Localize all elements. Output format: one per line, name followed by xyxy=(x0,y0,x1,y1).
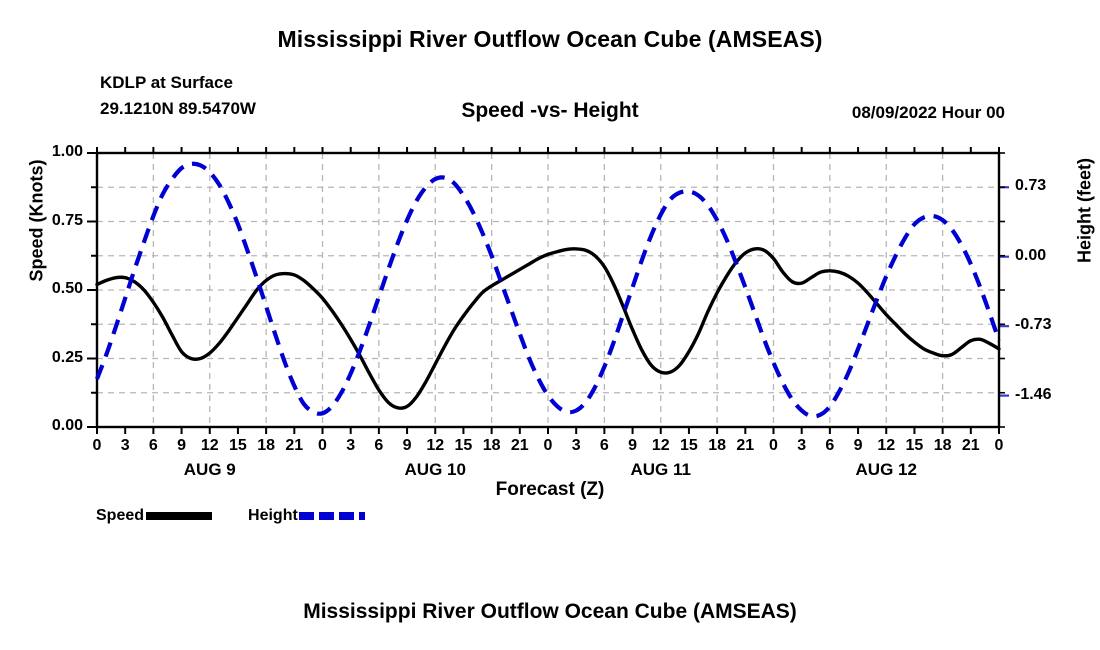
y-left-tick-label: 0.25 xyxy=(19,349,83,367)
x-tick-label: 21 xyxy=(505,437,535,455)
x-tick-label: 9 xyxy=(392,437,422,455)
x-tick-label: 3 xyxy=(787,437,817,455)
day-label: AUG 12 xyxy=(826,460,946,480)
x-tick-label: 9 xyxy=(167,437,197,455)
footer-title: Mississippi River Outflow Ocean Cube (AM… xyxy=(0,600,1100,624)
legend-item-height: Height xyxy=(248,507,365,525)
legend-label-speed: Speed xyxy=(96,507,144,525)
y-right-tick-label: -0.73 xyxy=(1015,316,1085,334)
day-label: AUG 11 xyxy=(601,460,721,480)
x-tick-label: 18 xyxy=(928,437,958,455)
chart-svg xyxy=(0,0,1100,650)
day-label: AUG 9 xyxy=(150,460,270,480)
legend-label-height: Height xyxy=(248,507,298,525)
x-tick-label: 3 xyxy=(110,437,140,455)
x-tick-label: 3 xyxy=(561,437,591,455)
legend-item-speed: Speed xyxy=(96,507,212,525)
x-axis-title: Forecast (Z) xyxy=(0,479,1100,501)
legend: Speed Height xyxy=(96,505,365,527)
y-right-tick-label: -1.46 xyxy=(1015,386,1085,404)
x-tick-label: 21 xyxy=(956,437,986,455)
legend-swatch-speed xyxy=(146,512,212,520)
plot-area: 0369121518210369121518210369121518210369… xyxy=(0,0,1100,650)
x-tick-label: 18 xyxy=(702,437,732,455)
x-tick-label: 21 xyxy=(279,437,309,455)
legend-swatch-height xyxy=(299,512,365,520)
x-tick-label: 6 xyxy=(138,437,168,455)
x-tick-label: 12 xyxy=(420,437,450,455)
x-tick-label: 12 xyxy=(195,437,225,455)
x-tick-label: 15 xyxy=(223,437,253,455)
x-tick-label: 3 xyxy=(336,437,366,455)
x-tick-label: 0 xyxy=(82,437,112,455)
x-tick-label: 6 xyxy=(364,437,394,455)
day-label: AUG 10 xyxy=(375,460,495,480)
y-axis-right-title: Height (feet) xyxy=(1075,111,1096,311)
x-tick-label: 0 xyxy=(533,437,563,455)
x-tick-label: 18 xyxy=(251,437,281,455)
y-left-tick-label: 0.00 xyxy=(19,417,83,435)
x-tick-label: 15 xyxy=(899,437,929,455)
x-tick-label: 15 xyxy=(448,437,478,455)
x-tick-label: 21 xyxy=(730,437,760,455)
x-tick-label: 6 xyxy=(815,437,845,455)
x-tick-label: 0 xyxy=(984,437,1014,455)
x-tick-label: 6 xyxy=(589,437,619,455)
x-tick-label: 15 xyxy=(674,437,704,455)
x-tick-label: 18 xyxy=(477,437,507,455)
x-tick-label: 9 xyxy=(618,437,648,455)
x-tick-label: 12 xyxy=(871,437,901,455)
x-tick-label: 9 xyxy=(843,437,873,455)
x-tick-label: 0 xyxy=(308,437,338,455)
y-axis-left-title: Speed (Knots) xyxy=(27,121,48,321)
x-tick-label: 0 xyxy=(759,437,789,455)
x-tick-label: 12 xyxy=(646,437,676,455)
chart-page: Mississippi River Outflow Ocean Cube (AM… xyxy=(0,0,1100,650)
